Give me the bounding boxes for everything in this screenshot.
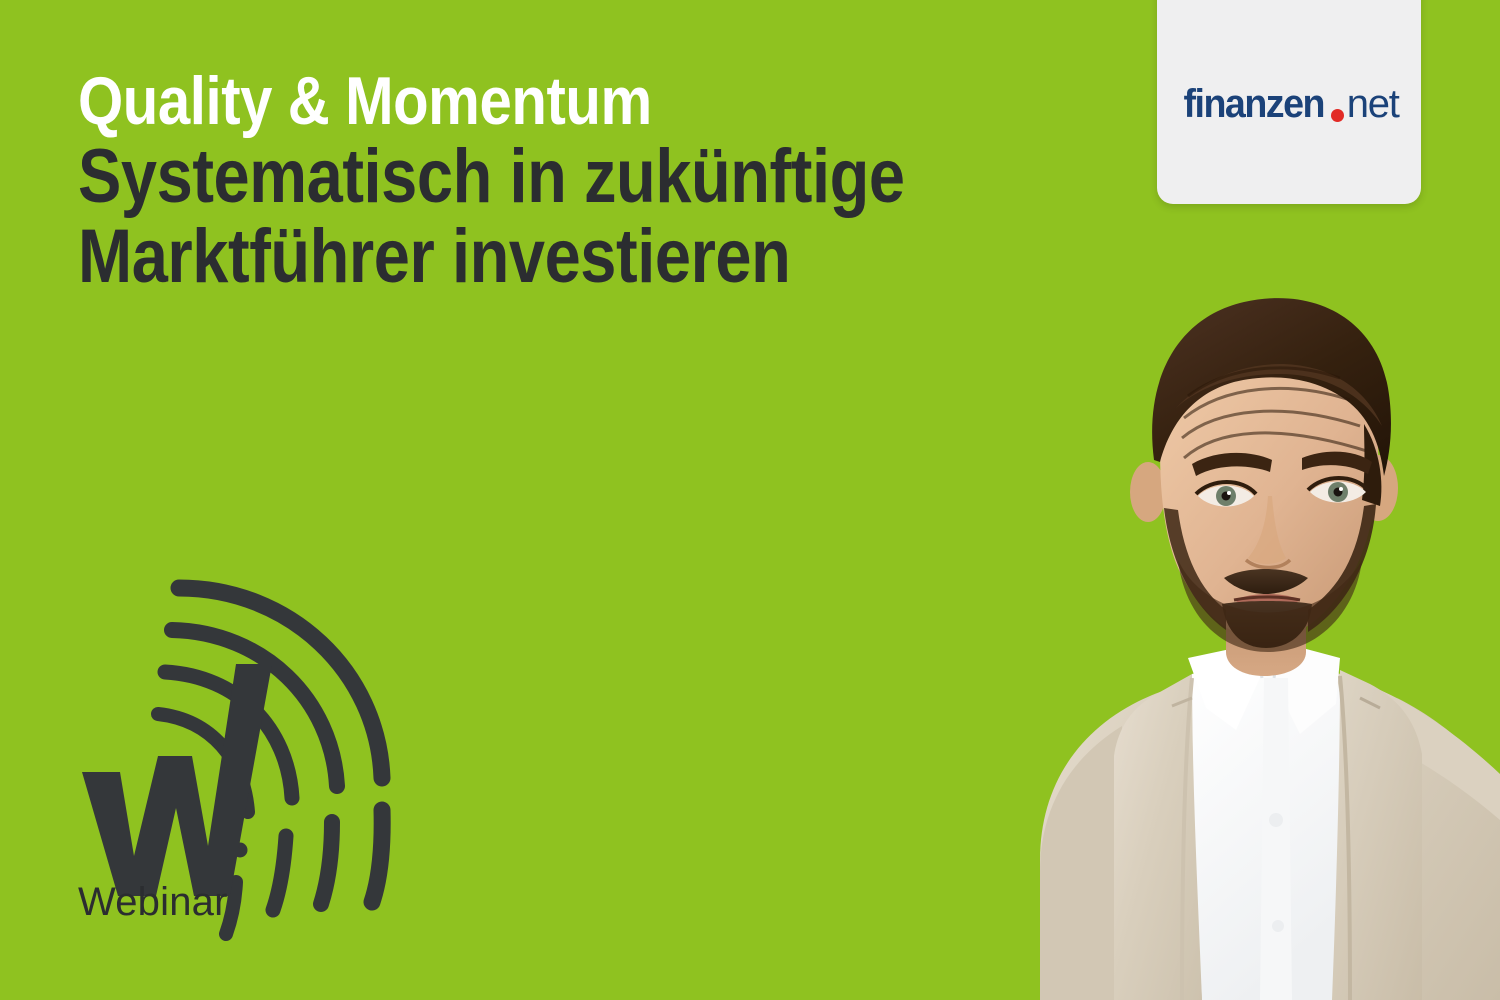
headline-line-3: Marktführer investieren bbox=[78, 219, 899, 294]
w-letter-mark bbox=[82, 664, 272, 896]
webinar-label: Webinar bbox=[78, 880, 228, 925]
brand-tld-light: net bbox=[1347, 84, 1399, 124]
brand-red-dot-icon bbox=[1331, 109, 1344, 122]
shirt-group bbox=[1188, 642, 1346, 1000]
webinar-promo-banner: Quality & Momentum Systematisch in zukün… bbox=[0, 0, 1500, 1000]
lapel-group bbox=[1114, 670, 1422, 1000]
moustache bbox=[1224, 569, 1308, 594]
mouth bbox=[1234, 594, 1300, 609]
brand-name-bold: finanzen bbox=[1184, 84, 1324, 124]
finanzen-net-wordmark: finanzen net bbox=[1179, 84, 1398, 124]
eye-left bbox=[1196, 482, 1256, 507]
headline-line-2: Systematisch in zukünftige bbox=[78, 139, 899, 214]
finanzen-net-logo-card[interactable]: finanzen net bbox=[1157, 0, 1421, 204]
headline-line-1: Quality & Momentum bbox=[78, 68, 899, 135]
jacket-group bbox=[1040, 664, 1500, 1000]
eye-right bbox=[1308, 478, 1368, 503]
goatee bbox=[1222, 601, 1312, 648]
eyebrow-left bbox=[1192, 453, 1272, 476]
hair bbox=[1152, 298, 1391, 476]
headline-block: Quality & Momentum Systematisch in zukün… bbox=[78, 68, 1038, 294]
head-group bbox=[1130, 298, 1398, 652]
eyebrow-right bbox=[1302, 452, 1372, 474]
speaker-portrait bbox=[740, 260, 1500, 1000]
neck bbox=[1226, 560, 1306, 676]
